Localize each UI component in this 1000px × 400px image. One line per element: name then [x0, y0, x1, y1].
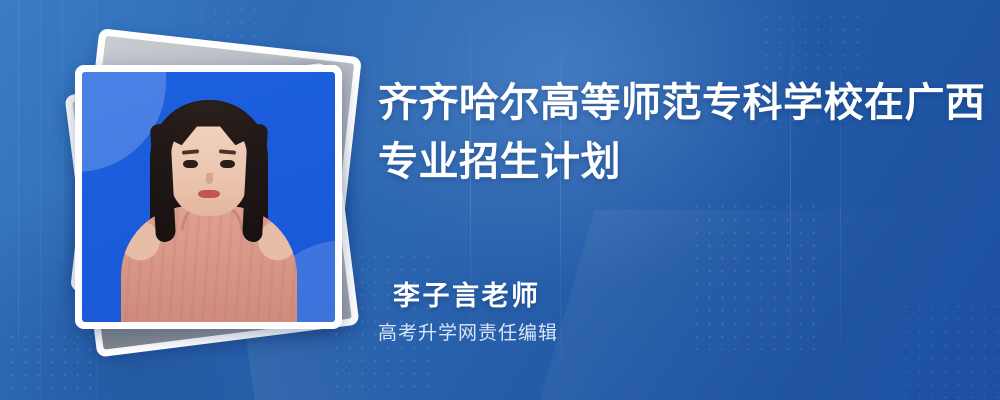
author-role: 高考升学网责任编辑	[378, 318, 558, 345]
portrait-mouth	[198, 190, 220, 198]
portrait-nose	[206, 173, 213, 184]
portrait-subject	[82, 72, 335, 322]
photo-card-stack	[44, 30, 364, 370]
portrait-eye-left	[183, 160, 198, 168]
banner-title: 齐齐哈尔高等师范专科学校在广西 专业招生计划	[378, 74, 968, 192]
photo-card-front	[75, 65, 342, 329]
author-name: 李子言老师	[393, 274, 541, 313]
portrait-eye-right	[220, 160, 235, 168]
banner-title-line-1: 齐齐哈尔高等师范专科学校在广西	[378, 74, 968, 133]
article-header-banner: 齐齐哈尔高等师范专科学校在广西 专业招生计划 李子言老师 高考升学网责任编辑	[0, 0, 1000, 400]
banner-title-line-2: 专业招生计划	[378, 133, 968, 192]
editor-portrait-photo	[82, 72, 335, 322]
banner-text-column: 齐齐哈尔高等师范专科学校在广西 专业招生计划 李子言老师 高考升学网责任编辑	[378, 0, 978, 400]
